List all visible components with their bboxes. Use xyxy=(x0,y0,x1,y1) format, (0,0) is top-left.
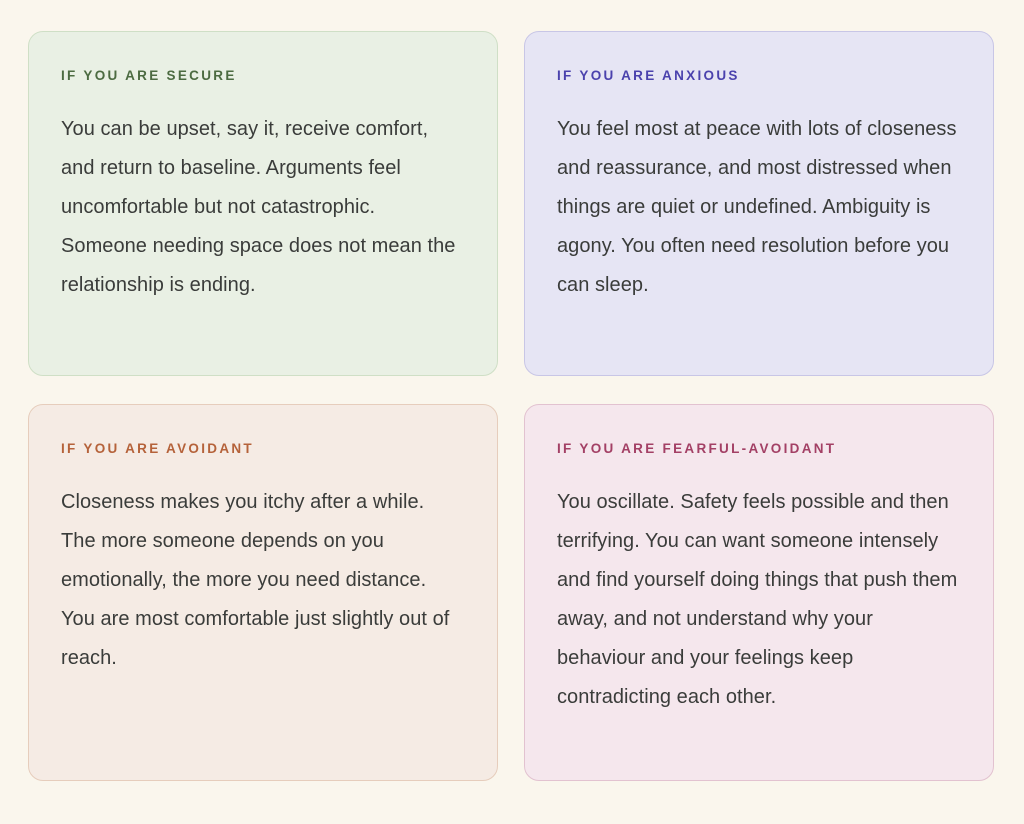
card-avoidant-label: IF YOU ARE AVOIDANT xyxy=(61,441,463,457)
card-fearful-avoidant-body: You oscillate. Safety feels possible and… xyxy=(557,483,959,717)
card-fearful-avoidant: IF YOU ARE FEARFUL-AVOIDANT You oscillat… xyxy=(524,404,994,781)
card-fearful-avoidant-label: IF YOU ARE FEARFUL-AVOIDANT xyxy=(557,441,959,457)
card-secure: IF YOU ARE SECURE You can be upset, say … xyxy=(28,31,498,376)
card-avoidant-body: Closeness makes you itchy after a while.… xyxy=(61,483,463,678)
card-avoidant: IF YOU ARE AVOIDANT Closeness makes you … xyxy=(28,404,498,781)
card-secure-body: You can be upset, say it, receive comfor… xyxy=(61,110,463,305)
card-anxious-label: IF YOU ARE ANXIOUS xyxy=(557,68,959,84)
card-anxious: IF YOU ARE ANXIOUS You feel most at peac… xyxy=(524,31,994,376)
card-anxious-body: You feel most at peace with lots of clos… xyxy=(557,110,957,305)
card-secure-label: IF YOU ARE SECURE xyxy=(61,68,463,84)
attachment-style-card-grid: IF YOU ARE SECURE You can be upset, say … xyxy=(0,0,1024,824)
